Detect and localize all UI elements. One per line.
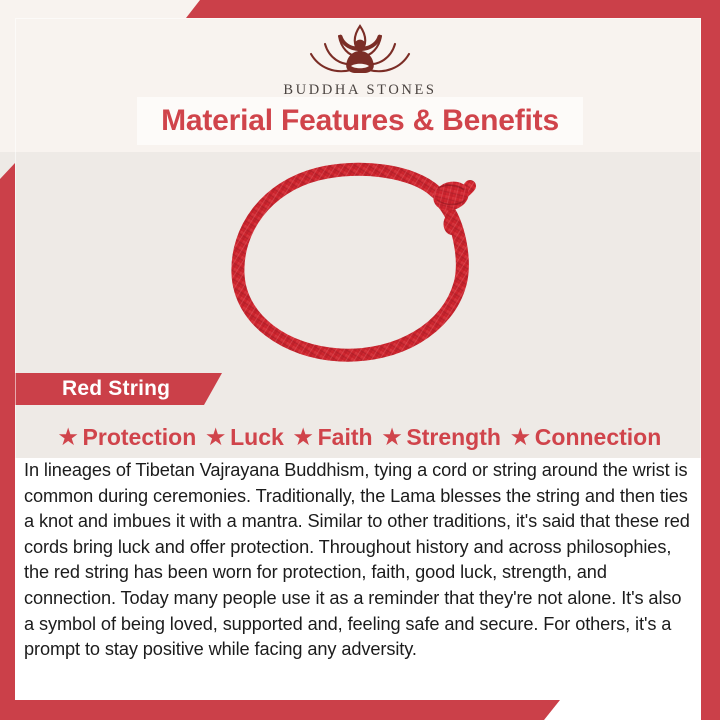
benefit-label: Luck xyxy=(230,424,284,451)
star-icon: ★ xyxy=(59,427,78,448)
product-tag-ribbon: Red String xyxy=(0,373,222,405)
page-title-banner: Material Features & Benefits xyxy=(137,97,583,145)
benefit-item: ★ Faith xyxy=(289,424,378,451)
star-icon: ★ xyxy=(511,427,530,448)
benefit-label: Strength xyxy=(406,424,501,451)
frame-bar-top xyxy=(186,0,720,18)
description-text: In lineages of Tibetan Vajrayana Buddhis… xyxy=(24,458,696,663)
benefit-item: ★ Strength xyxy=(378,424,506,451)
star-icon: ★ xyxy=(294,427,313,448)
benefit-label: Protection xyxy=(83,424,197,451)
benefit-label: Connection xyxy=(535,424,662,451)
frame-bar-right xyxy=(701,0,720,720)
benefit-label: Faith xyxy=(318,424,373,451)
star-icon: ★ xyxy=(383,427,402,448)
infographic-page: BUDDHA STONES Material Features & Benefi… xyxy=(0,0,720,720)
benefits-list: ★ Protection ★ Luck ★ Faith ★ Strength ★… xyxy=(0,418,720,456)
product-tag-label: Red String xyxy=(62,377,170,401)
red-string-bracelet-illustration xyxy=(208,152,508,364)
page-title: Material Features & Benefits xyxy=(161,104,559,138)
benefit-item: ★ Connection xyxy=(506,424,666,451)
product-image xyxy=(15,152,701,364)
star-icon: ★ xyxy=(206,427,225,448)
lotus-meditation-icon xyxy=(301,18,419,80)
benefit-item: ★ Luck xyxy=(201,424,289,451)
frame-bar-bottom xyxy=(0,700,560,720)
benefit-item: ★ Protection xyxy=(54,424,202,451)
description-panel: In lineages of Tibetan Vajrayana Buddhis… xyxy=(24,458,696,663)
brand-logo: BUDDHA STONES xyxy=(250,18,470,99)
